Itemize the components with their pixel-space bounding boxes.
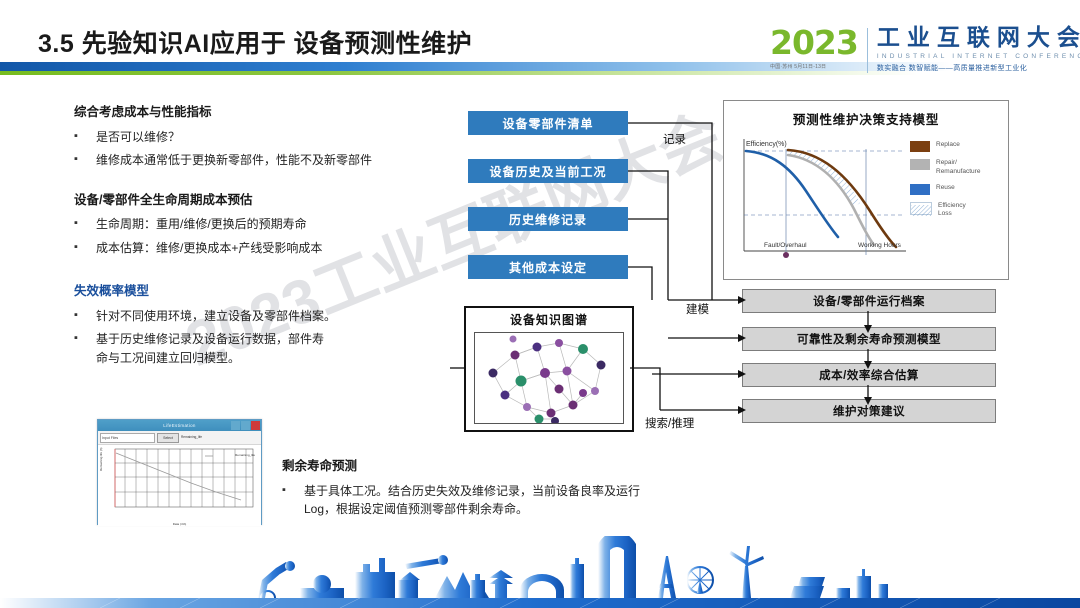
- chart-xlabel: Working Hours: [858, 242, 902, 249]
- fault-marker: [783, 252, 789, 258]
- app-plot-area: Remaining life (h) Data (n%) Remaining_l…: [98, 445, 261, 526]
- process-box-operation-archive[interactable]: 设备/零部件运行档案: [742, 289, 996, 313]
- bullet-dot: ▪: [74, 128, 96, 147]
- bullet-dot: ▪: [74, 215, 96, 234]
- bullet-dot: ▪: [74, 307, 96, 326]
- bullet-text: 针对不同使用环境，建立设备及零部件档案。: [96, 307, 336, 326]
- legend-label-reuse: Reuse: [936, 184, 955, 193]
- bullet-text: 生命周期：重用/维修/更换后的预期寿命: [96, 215, 307, 234]
- bullet-text: 是否可以维修？: [96, 128, 180, 147]
- knowledge-graph-panel: 设备知识图谱: [464, 306, 634, 432]
- app-toolbar: Input Files Select Remaining_life: [98, 431, 261, 445]
- logo-divider: [867, 28, 868, 73]
- legend-item-efficiency-loss: Efficiency Loss: [910, 202, 1002, 220]
- footer-skyline: [0, 536, 1080, 608]
- chart-fault-label: Fault/Overhaul: [764, 242, 807, 249]
- bullet-dot: ▪: [74, 330, 96, 367]
- knowledge-graph-svg: [475, 333, 624, 424]
- text-block-cost-performance: 综合考虑成本与性能指标 ▪ 是否可以维修？ ▪ 维修成本通常低于更换新零部件，性…: [74, 104, 454, 170]
- bullet-item: ▪ 生命周期：重用/维修/更换后的预期寿命: [74, 215, 454, 234]
- block-heading: 综合考虑成本与性能指标: [74, 104, 454, 122]
- knowledge-graph-canvas: [474, 332, 624, 424]
- legend-item-repair: Repair/ Remanufacture: [910, 159, 1002, 177]
- input-box-parts-list[interactable]: 设备零部件清单: [468, 111, 628, 135]
- app-plot-legend: Remaining_life: [235, 453, 255, 457]
- chart-svg: Efficiency(%) Fault/Overhaul Working Hou…: [724, 129, 914, 275]
- legend-label-repair: Repair/ Remanufacture: [936, 159, 980, 177]
- app-plot-xlabel: Data (n%): [98, 522, 261, 526]
- bullet-text: 基于历史维修记录及设备运行数据，部件寿命与工况间建立回归模型。: [96, 330, 328, 367]
- legend-item-replace: Replace: [910, 141, 1002, 152]
- bullet-dot: ▪: [74, 151, 96, 170]
- input-box-maintenance-record[interactable]: 历史维修记录: [468, 207, 628, 231]
- bullet-item: ▪ 是否可以维修？: [74, 128, 454, 147]
- bullet-text: 成本估算：维修/更换成本+产线受影响成本: [96, 239, 322, 258]
- logo-year: 2023: [770, 26, 858, 59]
- app-title: LifeEstimation: [163, 423, 195, 428]
- maximize-icon[interactable]: [241, 421, 250, 430]
- text-block-failure-probability: 失效概率模型 ▪ 针对不同使用环境，建立设备及零部件档案。 ▪ 基于历史维修记录…: [74, 283, 454, 367]
- bullet-dot: ▪: [74, 239, 96, 258]
- legend-swatch-repair: [910, 159, 930, 170]
- footer-skyline-svg: [0, 536, 1080, 608]
- hatch-icon: [911, 205, 931, 216]
- connector-label-modeling: 建模: [686, 301, 709, 317]
- app-plot-svg: [101, 447, 258, 523]
- slide-root: 3.5 先验知识AI应用于 设备预测性维护 2023 中国·苏州 5月11日-1…: [0, 0, 1080, 608]
- predictive-maintenance-chart-panel: 预测性维护决策支持模型: [723, 100, 1009, 280]
- bullet-item: ▪ 成本估算：维修/更换成本+产线受影响成本: [74, 239, 454, 258]
- process-box-reliability-model[interactable]: 可靠性及剩余寿命预测模型: [742, 327, 996, 351]
- bullet-text: 基于具体工况。结合历史失效及维修记录，当前设备良率及运行Log，根据设定阈值预测…: [304, 482, 652, 519]
- bullet-item: ▪ 维修成本通常低于更换新零部件，性能不及新零部件: [74, 151, 454, 170]
- bullet-item: ▪ 基于具体工况。结合历史失效及维修记录，当前设备良率及运行Log，根据设定阈值…: [282, 482, 652, 519]
- legend-swatch-reuse: [910, 184, 930, 195]
- chart-legend: Replace Repair/ Remanufacture Reuse: [910, 141, 1002, 226]
- logo-chinese-name: 工业互联网大会: [877, 26, 1080, 49]
- legend-swatch-efficiency-loss: [910, 202, 932, 215]
- block-heading: 设备/零部件全生命周期成本预估: [74, 192, 454, 210]
- block-heading: 剩余寿命预测: [282, 458, 652, 476]
- minimize-icon[interactable]: [231, 421, 240, 430]
- bullet-dot: ▪: [282, 482, 304, 519]
- input-box-other-cost[interactable]: 其他成本设定: [468, 255, 628, 279]
- process-box-maintenance-advice[interactable]: 维护对策建议: [742, 399, 996, 423]
- select-button[interactable]: Select: [157, 433, 179, 443]
- connector-label-search-reasoning: 搜索/推理: [645, 415, 694, 431]
- series-replace: [788, 150, 896, 247]
- bullet-text: 维修成本通常低于更换新零部件，性能不及新零部件: [96, 151, 372, 170]
- legend-item-reuse: Reuse: [910, 184, 1002, 195]
- input-file-select[interactable]: Input Files: [100, 433, 155, 443]
- app-window-controls: [230, 420, 260, 431]
- legend-label-efficiency-loss: Efficiency Loss: [938, 202, 966, 220]
- legend-swatch-replace: [910, 141, 930, 152]
- conference-logo: 2023 中国·苏州 5月11日-13日 工业互联网大会 INDUSTRIAL …: [770, 26, 1080, 73]
- left-text-column: 综合考虑成本与性能指标 ▪ 是否可以维修？ ▪ 维修成本通常低于更换新零部件，性…: [74, 104, 454, 384]
- logo-year-subtitle: 中国·苏州 5月11日-13日: [770, 63, 858, 70]
- bullet-item: ▪ 针对不同使用环境，建立设备及零部件档案。: [74, 307, 454, 326]
- connector-label-record: 记录: [663, 131, 686, 147]
- chart-title: 预测性维护决策支持模型: [724, 101, 1008, 128]
- life-estimation-app-window[interactable]: LifeEstimation Input Files Select Remain…: [97, 419, 262, 525]
- logo-tagline: 数实融合 数智赋能——高质量推进新型工业化: [877, 63, 1080, 73]
- app-plot-ylabel: Remaining life (h): [99, 447, 103, 471]
- app-titlebar: LifeEstimation: [98, 420, 261, 431]
- process-box-cost-efficiency[interactable]: 成本/效率综合估算: [742, 363, 996, 387]
- knowledge-graph-title: 设备知识图谱: [466, 308, 632, 330]
- text-block-remaining-life: 剩余寿命预测 ▪ 基于具体工况。结合历史失效及维修记录，当前设备良率及运行Log…: [282, 458, 652, 524]
- legend-label-replace: Replace: [936, 141, 960, 150]
- text-block-lifecycle-cost: 设备/零部件全生命周期成本预估 ▪ 生命周期：重用/维修/更换后的预期寿命 ▪ …: [74, 192, 454, 258]
- app-info-label: Remaining_life: [181, 436, 202, 440]
- input-box-history-condition[interactable]: 设备历史及当前工况: [468, 159, 628, 183]
- block-heading: 失效概率模型: [74, 283, 454, 301]
- bullet-item: ▪ 基于历史维修记录及设备运行数据，部件寿命与工况间建立回归模型。: [74, 330, 454, 367]
- page-title: 3.5 先验知识AI应用于 设备预测性维护: [38, 24, 472, 60]
- chart-ylabel: Efficiency(%): [746, 141, 787, 148]
- logo-english-name: INDUSTRIAL INTERNET CONFERENCE: [877, 53, 1080, 60]
- close-icon[interactable]: [251, 421, 260, 430]
